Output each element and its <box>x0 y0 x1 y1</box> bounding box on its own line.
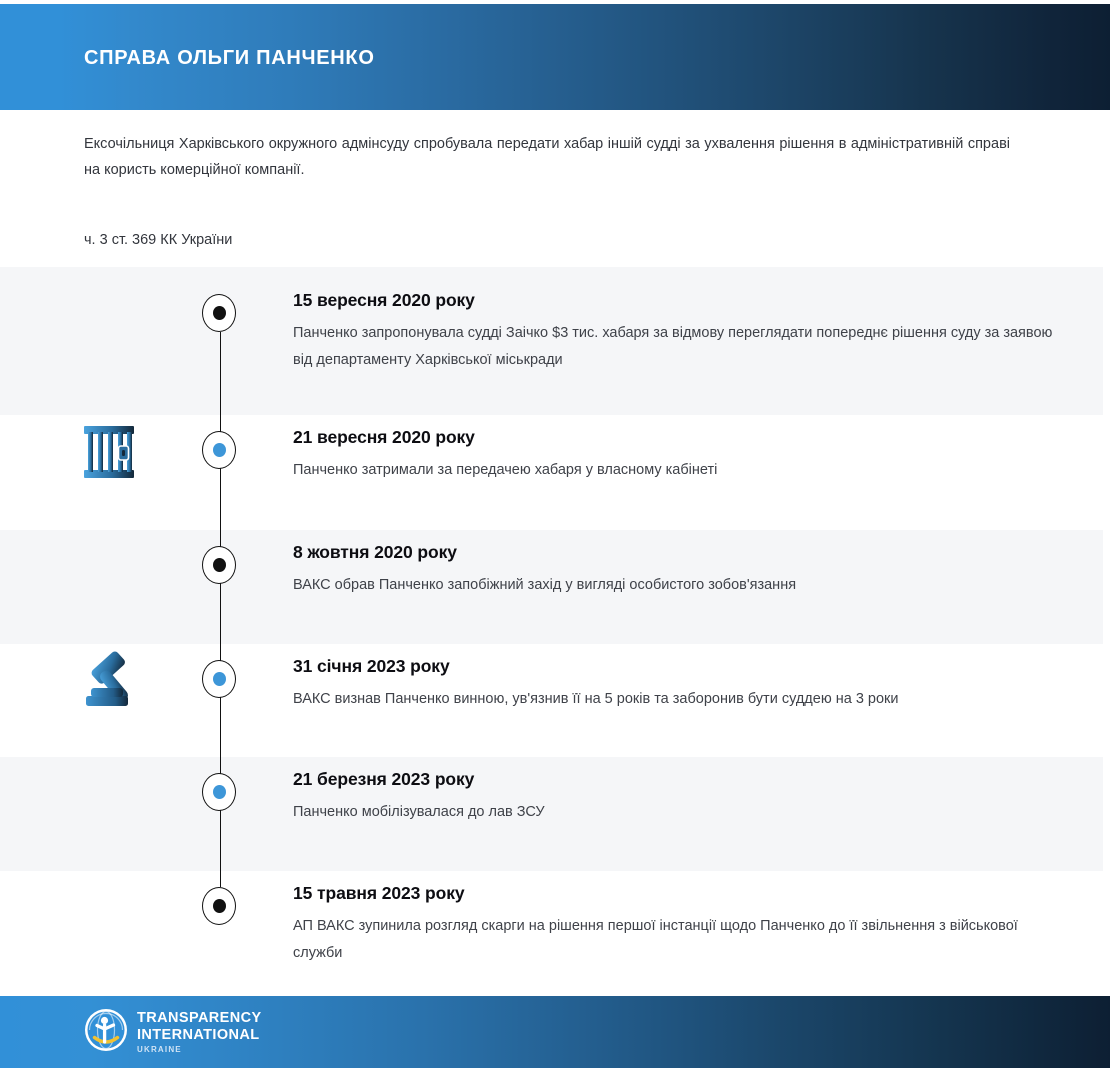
timeline-marker <box>202 431 236 469</box>
infographic-page: СПРАВА ОЛЬГИ ПАНЧЕНКО Ексочільниця Харкі… <box>0 0 1110 1068</box>
timeline-entry-date: 8 жовтня 2020 року <box>293 542 1053 563</box>
timeline-entry-date: 15 вересня 2020 року <box>293 290 1053 311</box>
footer-banner: TRANSPARENCY INTERNATIONAL UKRAINE <box>0 996 1110 1068</box>
timeline-marker-dot <box>213 558 226 572</box>
timeline-row: 15 вересня 2020 рокуПанченко запропонува… <box>0 267 1103 415</box>
timeline-spine <box>220 871 221 887</box>
timeline-entry-text: АП ВАКС зупинила розгляд скарги на рішен… <box>293 913 1053 967</box>
timeline-row: 15 травня 2023 рокуАП ВАКС зупинила розг… <box>0 871 1103 993</box>
timeline-entry-text: ВАКС визнав Панченко винною, ув'язнив її… <box>293 686 1053 713</box>
timeline-marker-dot <box>213 443 226 457</box>
timeline-row: 31 січня 2023 рокуВАКС визнав Панченко в… <box>0 644 1103 757</box>
timeline-marker-dot <box>213 306 226 320</box>
timeline-row: 21 вересня 2020 рокуПанченко затримали з… <box>0 415 1103 530</box>
timeline-row: 21 березня 2023 рокуПанченко мобілізувал… <box>0 757 1103 871</box>
transparency-international-globe-icon <box>84 1008 128 1057</box>
timeline-marker <box>202 546 236 584</box>
timeline-marker <box>202 773 236 811</box>
prison-bars-icon <box>80 420 138 487</box>
timeline-entry-text: Панченко мобілізувалася до лав ЗСУ <box>293 799 1053 826</box>
intro-block: Ексочільниця Харківського окружного адмі… <box>84 131 1010 183</box>
timeline-marker <box>202 294 236 332</box>
timeline-entry: 31 січня 2023 рокуВАКС визнав Панченко в… <box>293 656 1053 713</box>
timeline-entry-date: 15 травня 2023 року <box>293 883 1053 904</box>
logo-line-ukraine: UKRAINE <box>137 1046 262 1054</box>
timeline: 15 вересня 2020 рокуПанченко запропонува… <box>0 267 1103 993</box>
timeline-marker <box>202 660 236 698</box>
timeline-entry: 8 жовтня 2020 рокуВАКС обрав Панченко за… <box>293 542 1053 599</box>
timeline-marker-dot <box>213 785 226 799</box>
timeline-spine <box>220 332 221 415</box>
timeline-entry-date: 21 вересня 2020 року <box>293 427 1053 448</box>
timeline-entry-text: ВАКС обрав Панченко запобіжний захід у в… <box>293 572 1053 599</box>
intro-lead-text: Ексочільниця Харківського окружного адмі… <box>84 131 1010 183</box>
right-margin-strip <box>1103 110 1110 996</box>
logo-line-transparency: TRANSPARENCY <box>137 1011 262 1026</box>
logo-line-international: INTERNATIONAL <box>137 1028 262 1043</box>
page-title: СПРАВА ОЛЬГИ ПАНЧЕНКО <box>84 47 375 70</box>
timeline-entry: 21 березня 2023 рокуПанченко мобілізувал… <box>293 769 1053 826</box>
timeline-entry-date: 21 березня 2023 року <box>293 769 1053 790</box>
ti-ukraine-logo: TRANSPARENCY INTERNATIONAL UKRAINE <box>84 1008 262 1057</box>
ti-ukraine-wordmark: TRANSPARENCY INTERNATIONAL UKRAINE <box>137 1011 262 1054</box>
criminal-article-label: ч. 3 ст. 369 КК України <box>84 229 232 251</box>
timeline-entry: 21 вересня 2020 рокуПанченко затримали з… <box>293 427 1053 484</box>
timeline-marker-dot <box>213 672 226 686</box>
timeline-marker-dot <box>213 899 226 913</box>
timeline-row: 8 жовтня 2020 рокуВАКС обрав Панченко за… <box>0 530 1103 644</box>
header-banner: СПРАВА ОЛЬГИ ПАНЧЕНКО <box>0 4 1110 110</box>
timeline-entry-date: 31 січня 2023 року <box>293 656 1053 677</box>
timeline-entry-text: Панченко запропонувала судді Заічко $3 т… <box>293 320 1053 374</box>
timeline-entry: 15 вересня 2020 рокуПанченко запропонува… <box>293 290 1053 374</box>
timeline-entry: 15 травня 2023 рокуАП ВАКС зупинила розг… <box>293 883 1053 967</box>
gavel-icon <box>80 646 148 717</box>
top-hairline <box>0 0 1110 4</box>
timeline-entry-text: Панченко затримали за передачею хабаря у… <box>293 457 1053 484</box>
timeline-marker <box>202 887 236 925</box>
